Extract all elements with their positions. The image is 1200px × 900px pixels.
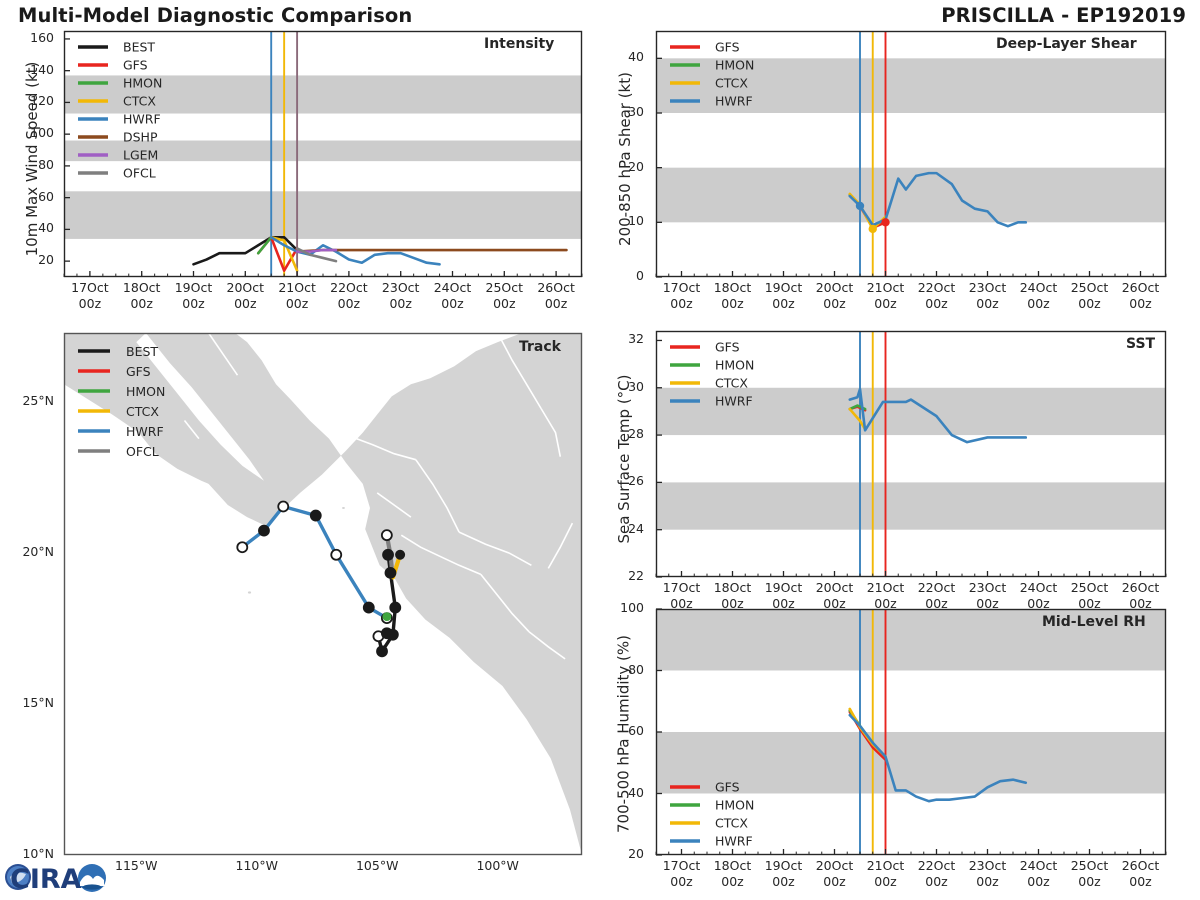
marker-ctcx (869, 225, 877, 233)
track-marker-ofcl (382, 530, 392, 540)
track-tag: Track (519, 339, 561, 355)
track-panel: BESTGFSHMONCTCXHWRFOFCL (64, 333, 582, 855)
y-tick-label: 80 (38, 157, 54, 172)
intensity-y-ticklabels: 20406080100120140160 (0, 31, 62, 277)
track-y-ticklabels: 10°N15°N20°N25°N (0, 333, 62, 855)
legend-label-hwrf: HWRF (715, 94, 753, 109)
island-2 (342, 507, 345, 509)
marker-gfs (881, 218, 889, 226)
y-tick-label: 24 (628, 521, 644, 536)
legend-label-lgem: LGEM (123, 148, 158, 163)
shaded-band (656, 168, 1166, 223)
y-tick-label: 22 (628, 568, 644, 583)
lat-tick-label: 15°N (22, 695, 54, 710)
x-tick-hour: 00z (1111, 874, 1171, 889)
x-tick-date: 26Oct (1111, 858, 1171, 873)
map-legend-label-gfs: GFS (126, 364, 151, 379)
legend-label-hmon: HMON (123, 76, 162, 91)
legend-label-gfs: GFS (715, 340, 740, 355)
lon-tick-label: 115°W (104, 858, 168, 873)
legend-label-hwrf: HWRF (715, 394, 753, 409)
y-tick-label: 60 (38, 189, 54, 204)
track-map: BESTGFSHMONCTCXHWRFOFCL (64, 333, 582, 855)
sst-tag: SST (1126, 336, 1155, 352)
legend-label-hmon: HMON (715, 58, 754, 73)
track-marker-best (382, 628, 392, 638)
x-tick-hour: 00z (1111, 296, 1171, 311)
legend-label-hwrf: HWRF (715, 834, 753, 849)
y-tick-label: 120 (30, 93, 54, 108)
x-tick-label: 26Oct00z (526, 280, 586, 311)
y-tick-label: 60 (628, 723, 644, 738)
track-marker-hwrf (259, 526, 269, 536)
map-legend-label-hwrf: HWRF (126, 424, 164, 439)
map-legend-label-ctcx: CTCX (126, 404, 159, 419)
y-tick-label: 40 (628, 785, 644, 800)
series-best (194, 237, 298, 264)
track-marker-best (377, 646, 387, 656)
y-tick-label: 20 (628, 846, 644, 861)
rh-x-ticklabels: 17Oct00z18Oct00z19Oct00z20Oct00z21Oct00z… (656, 858, 1166, 898)
y-tick-label: 10 (628, 213, 644, 228)
map-legend-label-best: BEST (126, 344, 158, 359)
track-marker-hwrf (364, 603, 374, 613)
y-tick-label: 26 (628, 473, 644, 488)
map-legend-label-hmon: HMON (126, 384, 165, 399)
x-tick-hour: 00z (526, 296, 586, 311)
lat-tick-label: 20°N (22, 544, 54, 559)
shaded-band (656, 482, 1166, 529)
lon-tick-label: 100°W (466, 858, 530, 873)
rh-tag: Mid-Level RH (1042, 614, 1146, 630)
lat-tick-label: 25°N (22, 393, 54, 408)
track-marker-hwrf (237, 542, 247, 552)
y-tick-label: 32 (628, 331, 644, 346)
sst-plot: GFSHMONCTCXHWRF (656, 331, 1166, 577)
page-title-right: PRISCILLA - EP192019 (941, 4, 1186, 27)
track-marker-hwrf (331, 550, 341, 560)
legend-label-gfs: GFS (715, 40, 740, 55)
track-x-ticklabels: 115°W110°W105°W100°W (64, 858, 582, 884)
x-tick-date: 26Oct (1111, 280, 1171, 295)
rh-plot: GFSHMONCTCXHWRF (656, 609, 1166, 855)
y-tick-label: 160 (30, 30, 54, 45)
intensity-plot: BESTGFSHMONCTCXHWRFDSHPLGEMOFCL (64, 31, 582, 277)
x-tick-label: 26Oct00z (1111, 280, 1171, 311)
lon-tick-label: 105°W (345, 858, 409, 873)
track-marker-best (383, 550, 393, 560)
y-tick-label: 20 (628, 159, 644, 174)
intensity-tag: Intensity (484, 36, 554, 52)
legend-label-ctcx: CTCX (715, 816, 748, 831)
y-tick-label: 30 (628, 104, 644, 119)
legend-label-dshp: DSHP (123, 130, 158, 145)
y-tick-label: 40 (38, 220, 54, 235)
island-0 (248, 591, 251, 593)
shear-panel: GFSHMONCTCXHWRF (656, 31, 1166, 277)
y-tick-label: 80 (628, 662, 644, 677)
rh-panel: GFSHMONCTCXHWRF (656, 609, 1166, 855)
track-marker-best (385, 568, 395, 578)
shear-plot: GFSHMONCTCXHWRF (656, 31, 1166, 277)
sst-y-ticklabels: 222426283032 (594, 331, 652, 577)
y-tick-label: 28 (628, 426, 644, 441)
y-tick-label: 140 (30, 62, 54, 77)
x-tick-label: 26Oct00z (1111, 580, 1171, 611)
legend-label-ctcx: CTCX (715, 376, 748, 391)
map-legend-label-ofcl: OFCL (126, 444, 159, 459)
track-marker-hwrf (311, 511, 321, 521)
y-tick-label: 30 (628, 379, 644, 394)
track-marker-hwrf (278, 501, 288, 511)
y-tick-label: 0 (636, 268, 644, 283)
y-tick-label: 100 (30, 125, 54, 140)
y-tick-label: 100 (620, 600, 644, 615)
y-tick-label: 40 (628, 49, 644, 64)
shear-tag: Deep-Layer Shear (996, 36, 1137, 52)
legend-label-best: BEST (123, 40, 155, 55)
intensity-panel: BESTGFSHMONCTCXHWRFDSHPLGEMOFCL (64, 31, 582, 277)
track-marker-hmon (382, 612, 391, 621)
page-title-left: Multi-Model Diagnostic Comparison (18, 4, 412, 27)
shear-x-ticklabels: 17Oct00z18Oct00z19Oct00z20Oct00z21Oct00z… (656, 280, 1166, 320)
track-marker-ctcx (395, 550, 405, 560)
x-tick-label: 26Oct00z (1111, 858, 1171, 889)
legend-label-ctcx: CTCX (715, 76, 748, 91)
legend-label-gfs: GFS (123, 58, 148, 73)
x-tick-date: 26Oct (526, 280, 586, 295)
sst-panel: GFSHMONCTCXHWRF (656, 331, 1166, 577)
legend-label-ofcl: OFCL (123, 166, 156, 181)
legend-label-hmon: HMON (715, 358, 754, 373)
lat-tick-label: 10°N (22, 846, 54, 861)
marker-hwrf (856, 202, 864, 210)
shaded-band (64, 191, 582, 239)
x-tick-date: 26Oct (1111, 580, 1171, 595)
y-tick-label: 20 (38, 252, 54, 267)
legend-label-hwrf: HWRF (123, 112, 161, 127)
intensity-x-ticklabels: 17Oct00z18Oct00z19Oct00z20Oct00z21Oct00z… (64, 280, 582, 320)
track-marker-best (390, 603, 400, 613)
legend-label-ctcx: CTCX (123, 94, 156, 109)
shear-y-ticklabels: 010203040 (594, 31, 652, 277)
lon-tick-label: 110°W (225, 858, 289, 873)
legend-label-gfs: GFS (715, 780, 740, 795)
legend-label-hmon: HMON (715, 798, 754, 813)
rh-y-ticklabels: 20406080100 (594, 609, 652, 855)
